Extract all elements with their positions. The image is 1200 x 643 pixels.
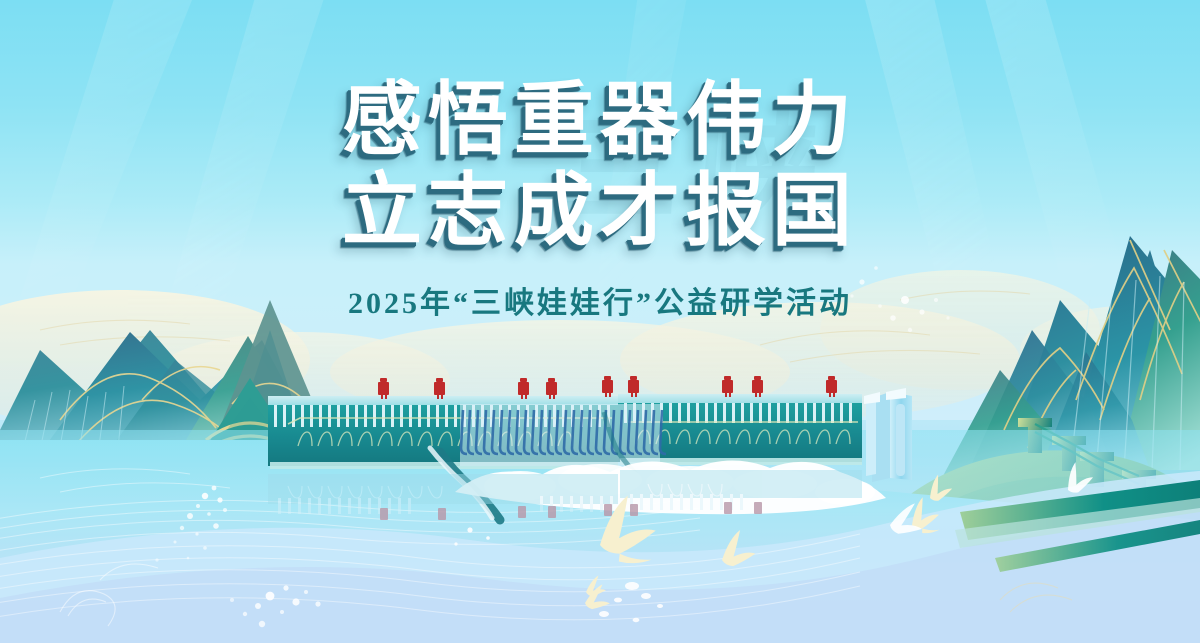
ship-lift-tower (864, 388, 912, 482)
scene-illustration (0, 0, 1200, 643)
banner-poster: 三峡 感悟重器伟力 立志成才报国 2025年“三峡娃娃行”公益研学活动 (0, 0, 1200, 643)
